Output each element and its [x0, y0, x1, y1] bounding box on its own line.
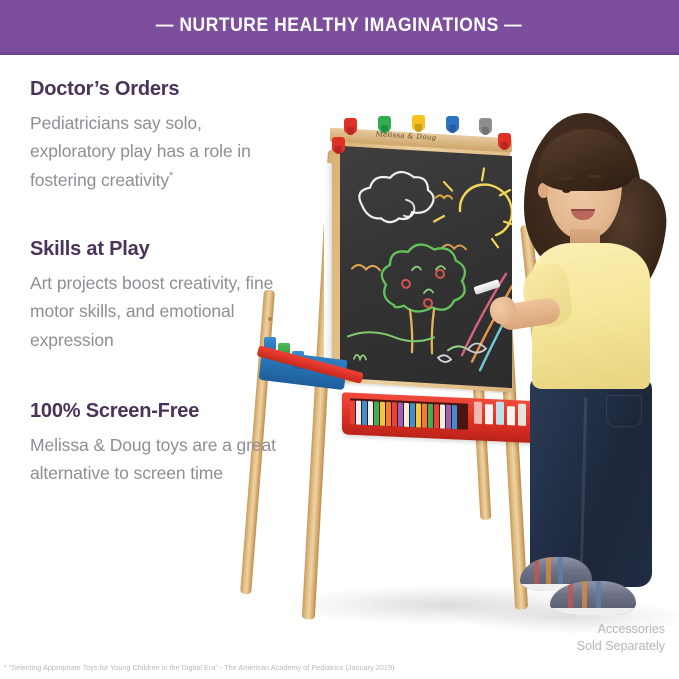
- easel-clip-green[interactable]: [378, 116, 391, 132]
- marker: [440, 404, 445, 428]
- easel-clip-blue[interactable]: [446, 116, 459, 132]
- feature-block-skills-at-play: Skills at Play Art projects boost creati…: [30, 238, 285, 354]
- accessories-line-1: Accessories: [577, 621, 665, 638]
- easel-clip-red[interactable]: [344, 118, 357, 134]
- marker: [452, 405, 457, 429]
- feature-body: Melissa & Doug toys are a great alternat…: [30, 431, 285, 488]
- marker: [398, 403, 403, 427]
- marker: [356, 401, 361, 425]
- feature-body-text: Pediatricians say solo, exploratory play…: [30, 113, 251, 190]
- marker: [410, 403, 415, 427]
- marker-bin: [350, 398, 468, 429]
- feature-heading: 100% Screen-Free: [30, 400, 285, 423]
- eye-left: [562, 187, 571, 193]
- feature-block-doctors-orders: Doctor’s Orders Pediatricians say solo, …: [30, 78, 285, 194]
- product-photo: Melissa & Doug: [258, 105, 679, 650]
- marker: [428, 404, 433, 428]
- footnote-marker: *: [169, 170, 173, 182]
- marker: [422, 404, 427, 428]
- marker: [374, 401, 379, 425]
- accessories-line-2: Sold Separately: [577, 638, 665, 655]
- marker: [446, 405, 451, 429]
- jeans-pocket: [606, 395, 642, 427]
- marker: [434, 404, 439, 428]
- marker: [404, 403, 409, 427]
- marker: [416, 403, 421, 427]
- marker: [350, 400, 355, 424]
- marker: [368, 401, 373, 425]
- feature-body: Pediatricians say solo, exploratory play…: [30, 109, 285, 194]
- feature-copy-column: Doctor’s Orders Pediatricians say solo, …: [30, 78, 285, 488]
- feature-heading: Doctor’s Orders: [30, 78, 285, 101]
- feature-body: Art projects boost creativity, fine moto…: [30, 269, 285, 354]
- feature-heading: Skills at Play: [30, 238, 285, 261]
- banner-title: — NURTURE HEALTHY IMAGINATIONS —: [156, 15, 522, 37]
- eye-right: [590, 185, 599, 191]
- chalk-stick: [474, 402, 482, 424]
- feature-block-screen-free: 100% Screen-Free Melissa & Doug toys are…: [30, 400, 285, 488]
- accessories-note: Accessories Sold Separately: [577, 621, 665, 655]
- child-model: [486, 105, 679, 635]
- easel-clip-yellow[interactable]: [412, 115, 425, 131]
- marker: [380, 402, 385, 426]
- marker: [386, 402, 391, 426]
- shoe-right: [550, 581, 636, 615]
- eyebrow-right: [588, 175, 601, 179]
- marker: [392, 402, 397, 426]
- easel-clip-corner-left[interactable]: [332, 137, 345, 153]
- header-banner: — NURTURE HEALTHY IMAGINATIONS —: [0, 0, 679, 55]
- marker: [362, 401, 367, 425]
- footnote-citation: * “Selecting Appropriate Toys for Young …: [4, 663, 394, 672]
